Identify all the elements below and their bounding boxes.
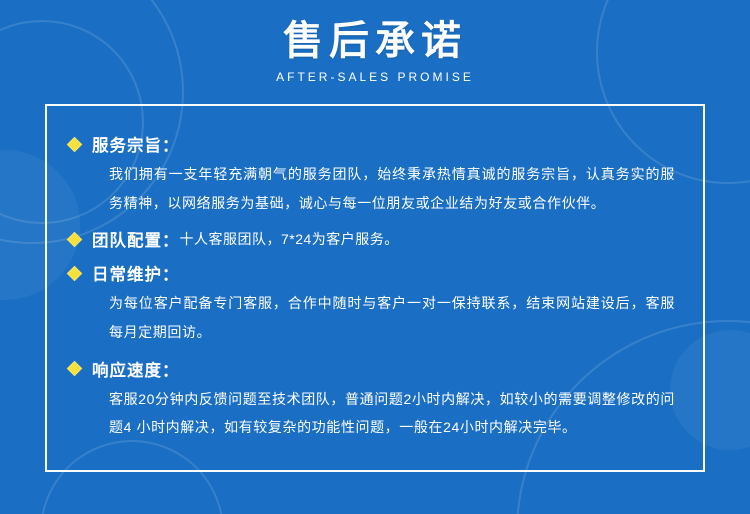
section-body: 我们拥有一支年轻充满朝气的服务团队，始终秉承热情真诚的服务宗旨，认真务实的服务精… <box>69 160 681 217</box>
section-body: 为每位客户配备专门客服，合作中随时与客户一对一保持联系，结束网站建设后，客服每月… <box>69 289 681 346</box>
page-subtitle: AFTER-SALES PROMISE <box>0 70 750 84</box>
diamond-bullet-icon <box>67 361 83 377</box>
page-header: 售后承诺 AFTER-SALES PROMISE <box>0 0 750 84</box>
section-heading: 团队配置： <box>92 227 180 251</box>
section-heading: 响应速度： <box>92 357 180 381</box>
section-heading-row: 日常维护： <box>69 261 681 285</box>
section-inline-text: 十人客服团队，7*24为客户服务。 <box>180 229 399 249</box>
section-service-purpose: 服务宗旨： 我们拥有一支年轻充满朝气的服务团队，始终秉承热情真诚的服务宗旨，认真… <box>69 132 681 217</box>
diamond-bullet-icon <box>67 232 83 248</box>
diamond-bullet-icon <box>67 266 83 282</box>
section-heading-row: 团队配置： 十人客服团队，7*24为客户服务。 <box>69 227 681 251</box>
after-sales-promise-page: 售后承诺 AFTER-SALES PROMISE 服务宗旨： 我们拥有一支年轻充… <box>0 0 750 514</box>
section-body: 客服20分钟内反馈问题至技术团队，普通问题2小时内解决，如较小的需要调整修改的问… <box>69 385 681 442</box>
section-heading: 日常维护： <box>92 261 180 285</box>
section-heading-row: 服务宗旨： <box>69 132 681 156</box>
section-team-config: 团队配置： 十人客服团队，7*24为客户服务。 <box>69 227 681 251</box>
section-heading: 服务宗旨： <box>92 132 180 156</box>
content-panel: 服务宗旨： 我们拥有一支年轻充满朝气的服务团队，始终秉承热情真诚的服务宗旨，认真… <box>45 104 705 472</box>
page-title: 售后承诺 <box>0 16 750 66</box>
section-response-speed: 响应速度： 客服20分钟内反馈问题至技术团队，普通问题2小时内解决，如较小的需要… <box>69 357 681 442</box>
section-daily-maintenance: 日常维护： 为每位客户配备专门客服，合作中随时与客户一对一保持联系，结束网站建设… <box>69 261 681 346</box>
section-heading-row: 响应速度： <box>69 357 681 381</box>
diamond-bullet-icon <box>67 136 83 152</box>
